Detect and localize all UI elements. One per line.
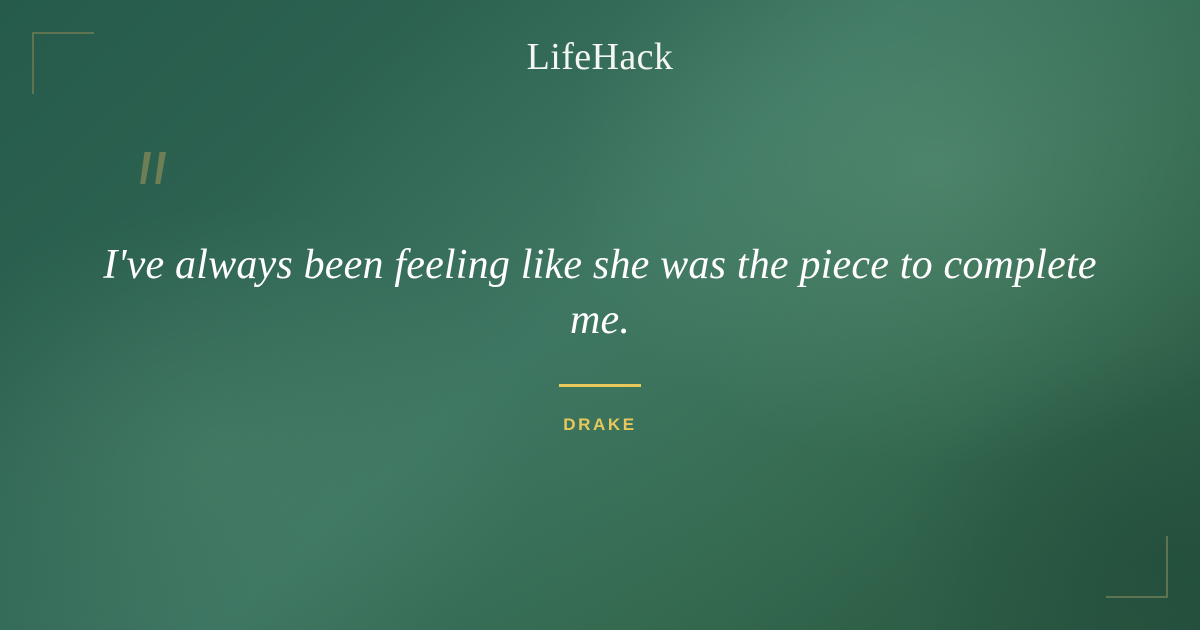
brand-logo: LifeHack	[0, 38, 1200, 76]
attribution-divider	[559, 384, 641, 387]
quote-text: I've always been feeling like she was th…	[100, 238, 1100, 348]
quote-author: DRAKE	[0, 415, 1200, 435]
double-quote-icon	[132, 150, 178, 204]
corner-bracket-bottom-right-icon	[1106, 536, 1168, 598]
quote-card: LifeHack I've always been feeling like s…	[0, 0, 1200, 630]
